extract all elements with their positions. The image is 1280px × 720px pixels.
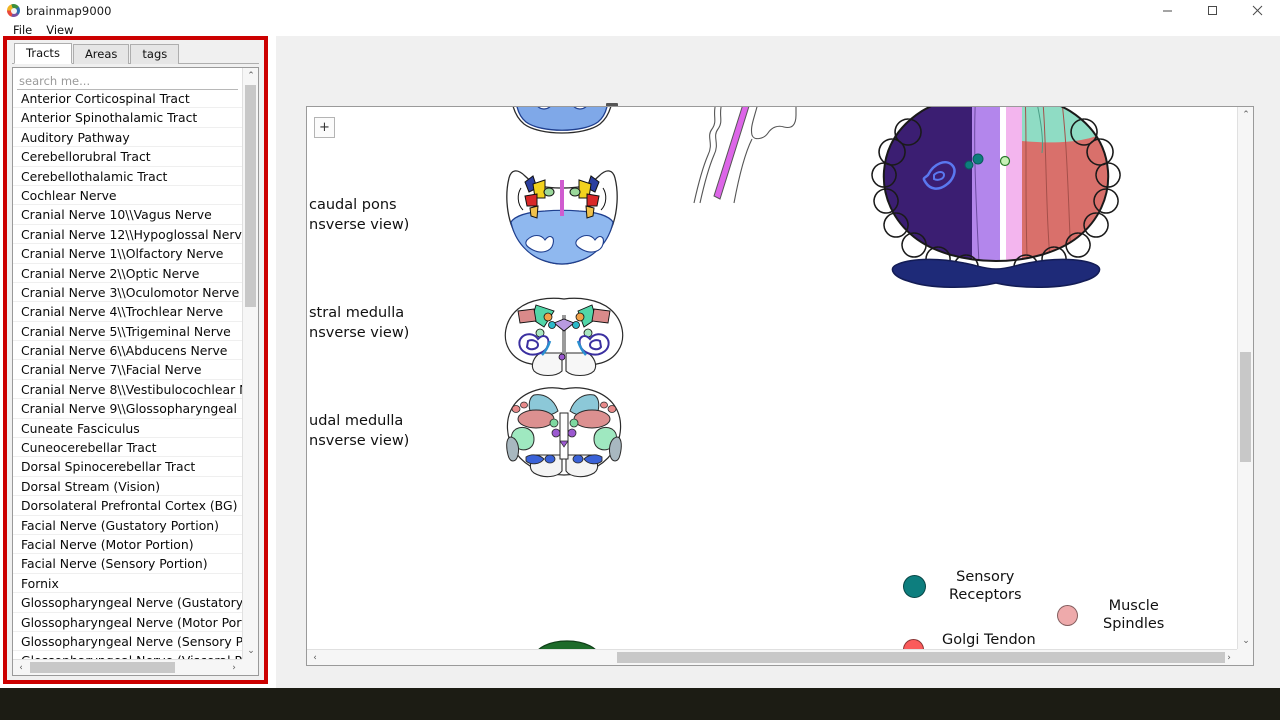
diagram-caudal-medulla — [500, 383, 628, 488]
canvas-horizontal-scrollbar[interactable]: ‹ › — [307, 649, 1237, 665]
list-item[interactable]: Cranial Nerve 9\\Glossopharyngeal Nerve — [13, 399, 242, 418]
zoom-in-button[interactable]: + — [314, 117, 335, 138]
diagram-canvas-content: + — [307, 107, 1237, 649]
list-item[interactable]: Cerebellothalamic Tract — [13, 167, 242, 186]
canvas-horizontal-scroll-thumb[interactable] — [617, 652, 1225, 663]
diagram-label-caudal-pons: caudal pons nsverse view) — [309, 195, 409, 235]
canvas-area: + — [276, 36, 1280, 688]
diagram-nerve-trace — [692, 107, 822, 214]
diagram-label-rostral-medulla: stral medulla nsverse view) — [309, 303, 409, 343]
legend-item-muscle-spindles: Muscle Spindles — [1057, 597, 1164, 633]
search-row — [13, 68, 242, 88]
tract-list-vertical-scroll-thumb[interactable] — [245, 85, 256, 307]
tract-list-frame: Anterior Corticospinal TractAnterior Spi… — [12, 67, 259, 676]
legend-label-sensory-receptors: Sensory Receptors — [949, 568, 1022, 604]
canvas-scroll-down-arrow-icon[interactable]: ⌄ — [1238, 633, 1254, 649]
tab-tags[interactable]: tags — [130, 44, 179, 64]
tract-list-viewport: Anterior Corticospinal TractAnterior Spi… — [13, 68, 242, 659]
list-item[interactable]: Cranial Nerve 6\\Abducens Nerve — [13, 341, 242, 360]
list-item[interactable]: Anterior Corticospinal Tract — [13, 89, 242, 108]
close-button[interactable] — [1235, 0, 1280, 21]
diagram-cerebellum — [872, 107, 1122, 283]
legend-item-sensory-receptors: Sensory Receptors — [903, 568, 1022, 604]
left-panel-highlight-border: Tracts Areas tags Anterior Corticospinal… — [3, 36, 268, 684]
legend-swatch-golgi-tendon-organs — [903, 639, 924, 650]
canvas-scroll-right-arrow-icon[interactable]: › — [1221, 650, 1237, 666]
scroll-left-arrow-icon[interactable]: ‹ — [13, 660, 29, 676]
diagram-rostral-medulla — [500, 295, 628, 377]
list-item[interactable]: Auditory Pathway — [13, 128, 242, 147]
diagram-label-caudal-medulla: udal medulla nsverse view) — [309, 411, 409, 451]
list-item[interactable]: Fornix — [13, 574, 242, 593]
scroll-down-arrow-icon[interactable]: ⌄ — [243, 643, 259, 659]
search-input[interactable] — [17, 74, 238, 90]
window-controls — [1145, 0, 1280, 21]
legend-item-golgi-tendon-organs: Golgi Tendon Organs — [903, 631, 1036, 649]
diagram-partial-bottom-right — [1047, 635, 1087, 649]
list-item[interactable]: Glossopharyngeal Nerve (Sensory Portion) — [13, 632, 242, 651]
tab-strip: Tracts Areas tags — [12, 44, 259, 64]
list-item[interactable]: Cuneate Fasciculus — [13, 419, 242, 438]
diagram-caudal-pons — [497, 164, 627, 274]
diagram-partial-bottom-left — [532, 623, 602, 649]
list-item[interactable]: Glossopharyngeal Nerve (Gustatory Portio… — [13, 593, 242, 612]
maximize-button[interactable] — [1190, 0, 1235, 21]
list-item[interactable]: Cranial Nerve 3\\Oculomotor Nerve — [13, 283, 242, 302]
diagram-rostral-pons — [502, 107, 622, 142]
list-item[interactable]: Cuneocerebellar Tract — [13, 438, 242, 457]
list-item[interactable]: Cranial Nerve 1\\Olfactory Nerve — [13, 244, 242, 263]
list-item[interactable]: Glossopharyngeal Nerve (Visceral Portion… — [13, 651, 242, 659]
list-item[interactable]: Dorsolateral Prefrontal Cortex (BG) — [13, 496, 242, 515]
list-item[interactable]: Dorsal Stream (Vision) — [13, 477, 242, 496]
canvas-vertical-scroll-thumb[interactable] — [1240, 352, 1251, 462]
scrollbar-corner — [242, 659, 258, 675]
list-item[interactable]: Cranial Nerve 2\\Optic Nerve — [13, 264, 242, 283]
scroll-right-arrow-icon[interactable]: › — [226, 660, 242, 676]
legend-label-muscle-spindles: Muscle Spindles — [1103, 597, 1164, 633]
list-item[interactable]: Cranial Nerve 7\\Facial Nerve — [13, 360, 242, 379]
left-panel: Tracts Areas tags Anterior Corticospinal… — [7, 40, 264, 680]
tract-list-horizontal-scrollbar[interactable]: ‹ › — [13, 659, 242, 675]
list-item[interactable]: Facial Nerve (Motor Portion) — [13, 535, 242, 554]
canvas-scrollbar-corner — [1237, 649, 1253, 665]
list-item[interactable]: Cranial Nerve 4\\Trochlear Nerve — [13, 302, 242, 321]
diagram-canvas-viewport[interactable]: + — [307, 107, 1237, 649]
tab-tracts[interactable]: Tracts — [14, 43, 72, 64]
list-item[interactable]: Cerebellorubral Tract — [13, 147, 242, 166]
tab-areas[interactable]: Areas — [73, 44, 129, 64]
list-item[interactable]: Dorsal Spinocerebellar Tract — [13, 457, 242, 476]
list-item[interactable]: Cranial Nerve 12\\Hypoglossal Nerve — [13, 225, 242, 244]
list-item[interactable]: Glossopharyngeal Nerve (Motor Portion) — [13, 613, 242, 632]
list-item[interactable]: Facial Nerve (Gustatory Portion) — [13, 516, 242, 535]
list-item[interactable]: Cranial Nerve 10\\Vagus Nerve — [13, 205, 242, 224]
tract-list: Anterior Corticospinal TractAnterior Spi… — [13, 88, 242, 659]
list-item[interactable]: Cochlear Nerve — [13, 186, 242, 205]
list-item[interactable]: Anterior Spinothalamic Tract — [13, 108, 242, 127]
tract-list-horizontal-scroll-thumb[interactable] — [30, 662, 175, 673]
scroll-up-arrow-icon[interactable]: ⌃ — [243, 68, 259, 84]
application-window: brainmap9000 File View Tracts Areas tags — [0, 0, 1280, 688]
title-bar: brainmap9000 — [0, 0, 1280, 21]
list-item[interactable]: Cranial Nerve 8\\Vestibulocochlear Nerve — [13, 380, 242, 399]
diagram-canvas-frame: + — [306, 106, 1254, 666]
tract-list-vertical-scrollbar[interactable]: ⌃ ⌄ — [242, 68, 258, 659]
canvas-scroll-left-arrow-icon[interactable]: ‹ — [307, 650, 323, 666]
list-item[interactable]: Facial Nerve (Sensory Portion) — [13, 554, 242, 573]
list-item[interactable]: Cranial Nerve 5\\Trigeminal Nerve — [13, 322, 242, 341]
legend-swatch-sensory-receptors — [903, 575, 926, 598]
legend-swatch-muscle-spindles — [1057, 605, 1078, 626]
canvas-scroll-up-arrow-icon[interactable]: ⌃ — [1238, 107, 1254, 123]
window-title: brainmap9000 — [26, 4, 112, 18]
app-logo-icon — [7, 4, 20, 17]
legend-label-golgi-tendon-organs: Golgi Tendon Organs — [942, 631, 1036, 649]
minimize-button[interactable] — [1145, 0, 1190, 21]
canvas-vertical-scrollbar[interactable]: ⌃ ⌄ — [1237, 107, 1253, 649]
